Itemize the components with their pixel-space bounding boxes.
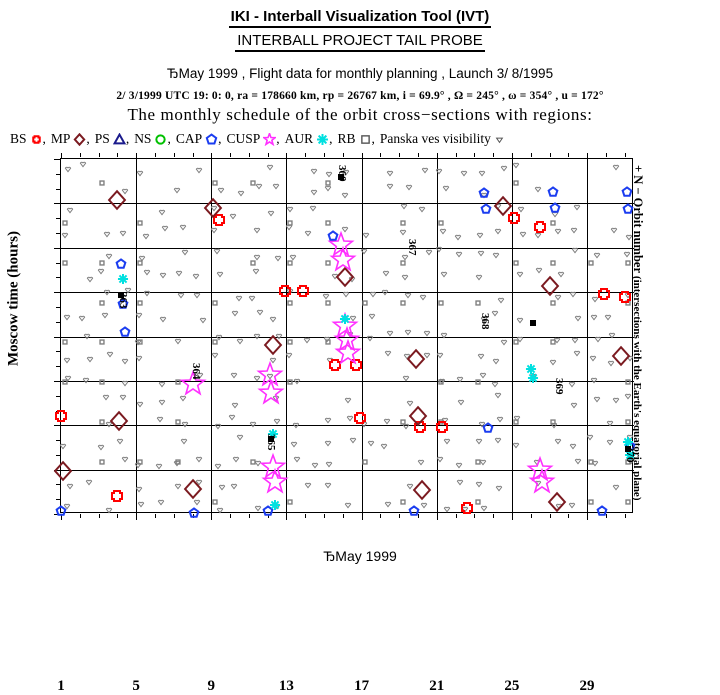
visibility-marker [101,311,109,319]
data-point-bs[interactable] [594,284,614,304]
visibility-marker [442,184,450,192]
visibility-marker [103,288,111,296]
visibility-marker [175,269,183,277]
legend-item-cusp: CUSP [226,131,276,147]
visibility-marker [386,329,394,337]
visibility-marker [159,271,167,279]
visibility-marker [310,167,318,175]
visibility-marker [573,203,581,211]
rb-background-marker [174,419,181,426]
rb-background-marker [99,339,106,346]
visibility-marker [512,441,520,449]
legend-separator: , [43,131,46,147]
visibility-marker [290,440,298,448]
legend-label-cap: CAP [176,131,202,147]
x-tick-minor-top [493,153,494,157]
legend-item-rb: RB [338,131,372,147]
data-point-bs[interactable] [457,498,477,518]
visibility-marker [590,376,598,384]
y-tick [54,159,61,160]
legend-label-cusp: CUSP [226,131,260,147]
visibility-marker [475,273,483,281]
rb-background-marker [399,299,406,306]
square-icon [359,133,372,146]
y-tick-minor [56,499,61,500]
rb-background-marker [287,219,294,226]
x-tick-minor-top [230,153,231,157]
x-tick [136,514,137,520]
visibility-marker [256,308,264,316]
visibility-marker [623,250,631,258]
data-point-mp[interactable] [405,348,427,370]
orbital-elements-line: 2/ 3/1999 UTC 19: 0: 0, ra = 178660 km, … [0,90,720,102]
y-tick-minor [56,189,61,190]
visibility-marker [477,249,485,257]
visibility-marker [404,291,412,299]
visibility-marker [367,439,375,447]
visibility-marker [158,380,166,388]
visibility-marker [106,350,114,358]
visibility-marker [593,395,601,403]
orbit-number-label: 368 [479,313,491,330]
visibility-marker [253,332,261,340]
data-point-cap[interactable] [327,230,339,242]
legend-item-ns: NS [134,131,167,147]
visibility-marker [235,294,243,302]
rb-background-marker [512,339,519,346]
triangle-icon [113,133,126,146]
legend-item-mp: MP [51,131,87,147]
gridline-horizontal [61,381,634,382]
visibility-marker [286,205,294,213]
visibility-marker [121,379,129,387]
data-point-mp[interactable] [539,275,561,297]
x-tick-minor [174,514,175,518]
visibility-marker [574,457,582,465]
x-tick-minor-top [155,153,156,157]
visibility-marker [516,270,524,278]
data-point-cusp[interactable] [529,469,555,495]
rb-background-marker [587,259,594,266]
visibility-marker [325,460,333,468]
data-point-cap[interactable] [188,507,200,519]
rb-background-marker [512,179,519,186]
x-tick-minor [343,514,344,518]
x-tick-top [136,153,137,159]
x-tick-label: 1 [41,678,81,695]
x-tick-minor-top [193,153,194,157]
visibility-marker [400,202,408,210]
data-point-bs[interactable] [432,417,452,437]
visibility-marker [85,478,93,486]
rb-background-marker [136,259,143,266]
schedule-description: The monthly schedule of the orbit cross−… [0,105,720,125]
visibility-marker [456,375,464,383]
data-point-cap[interactable] [478,187,490,199]
data-point-bs[interactable] [51,406,71,426]
visibility-marker [425,248,433,256]
visibility-marker [230,371,238,379]
visibility-marker [158,398,166,406]
data-point-bs[interactable] [275,281,295,301]
visibility-marker [177,291,185,299]
visibility-marker [179,223,187,231]
data-point-aur[interactable] [339,313,351,325]
data-point-mp[interactable] [202,197,224,219]
legend-item-ps: PS [95,131,126,147]
data-point-mp[interactable] [106,189,128,211]
visibility-marker [137,500,145,508]
x-tick-minor [550,514,551,518]
visibility-marker [97,267,105,275]
visibility-marker [421,166,429,174]
data-point-mp[interactable] [262,334,284,356]
orbit-schedule-plot[interactable]: 0369121518212415913172125293603633643653… [60,158,633,513]
visibility-marker [174,337,182,345]
data-point-aur[interactable] [117,273,129,285]
legend-item-cap: CAP [176,131,218,147]
orbit-number-label: 369 [553,378,565,395]
x-tick-minor [380,514,381,518]
x-tick-minor-top [99,153,100,157]
visibility-marker [324,416,332,424]
visibility-marker [344,501,352,509]
rb-background-marker [625,259,632,266]
visibility-marker [103,230,111,238]
visibility-marker [362,231,370,239]
data-point-mp[interactable] [108,410,130,432]
visibility-marker [606,419,614,427]
y-tick [54,203,61,204]
visibility-marker [66,206,74,214]
rb-background-marker [287,259,294,266]
legend-separator: , [218,131,221,147]
rb-background-marker [550,339,557,346]
y-tick-minor [56,322,61,323]
rb-background-marker [550,299,557,306]
visibility-marker [440,270,448,278]
x-tick-label: 9 [191,678,231,695]
visibility-marker [384,500,392,508]
data-point-bs[interactable] [530,217,550,237]
data-point-cap[interactable] [622,203,634,215]
data-point-bs[interactable] [107,486,127,506]
visibility-marker [266,163,274,171]
visibility-marker [460,169,468,177]
data-point-mp[interactable] [492,195,514,217]
visibility-marker [310,188,318,196]
x-tick-minor [155,514,156,518]
x-tick-minor [230,514,231,518]
x-tick-top [286,153,287,159]
y-tick-minor [56,366,61,367]
visibility-marker [135,311,143,319]
visibility-marker [79,160,87,168]
y-tick [54,381,61,382]
x-tick [437,514,438,520]
x-tick-minor [305,514,306,518]
visibility-marker [417,458,425,466]
visibility-marker [589,354,597,362]
visibility-marker [477,352,485,360]
x-tick-minor-top [305,153,306,157]
visibility-marker [236,433,244,441]
rb-background-marker [362,299,369,306]
visibility-marker [255,182,263,190]
x-tick-minor-top [268,153,269,157]
data-point-cap[interactable] [115,258,127,270]
x-tick-minor [324,514,325,518]
data-point-aur[interactable] [269,499,281,511]
data-point-cap[interactable] [549,202,561,214]
visibility-marker [63,313,71,321]
visibility-marker [573,349,581,357]
visibility-marker [231,309,239,317]
rb-background-marker [550,219,557,226]
x-tick-label: 21 [417,678,457,695]
data-point-mp[interactable] [407,405,429,427]
project-subtitle: INTERBALL PROJECT TAIL PROBE [0,32,720,49]
x-tick [587,514,588,520]
orbit-number-label: 370 [624,446,636,463]
visibility-marker [214,422,222,430]
visibility-marker [491,380,499,388]
visibility-marker [86,275,94,283]
pentagon-icon [205,133,218,146]
rb-background-marker [99,379,106,386]
cross-icon [30,133,43,146]
data-point-cap[interactable] [408,505,420,517]
y-tick-minor [56,307,61,308]
gridline-horizontal [61,203,634,204]
legend-label-ns: NS [134,131,151,147]
rb-background-marker [61,259,68,266]
visibility-marker [61,231,69,239]
x-tick-label: 13 [266,678,306,695]
data-point-cap[interactable] [119,326,131,338]
x-tick-minor [625,514,626,518]
data-point-bs[interactable] [615,287,635,307]
visibility-marker [405,183,413,191]
visibility-marker [455,461,463,469]
rb-background-marker [61,379,68,386]
y-tick-minor [56,174,61,175]
visibility-marker [380,442,388,450]
rb-background-marker [136,299,143,306]
y-tick [54,292,61,293]
x-tick-minor [493,514,494,518]
visibility-marker [612,483,620,491]
x-tick-minor [531,514,532,518]
x-tick-minor-top [456,153,457,157]
data-point-cap[interactable] [596,505,608,517]
data-point-cap[interactable] [55,505,67,517]
visibility-marker [369,290,377,298]
y-tick-minor [56,277,61,278]
visibility-marker [156,415,164,423]
rb-background-marker [625,379,632,386]
visibility-marker [382,269,390,277]
visibility-marker [534,185,542,193]
star-icon [263,133,276,146]
visibility-marker [66,482,74,490]
visibility-marker [475,480,483,488]
visibility-marker [292,421,300,429]
rb-background-marker [475,299,482,306]
data-point-aur[interactable] [527,372,539,384]
visibility-marker [624,392,632,400]
orbit-number-label: 364 [190,363,202,380]
visibility-marker [143,289,151,297]
visibility-marker [173,186,181,194]
visibility-marker [341,191,349,199]
visibility-marker [344,396,352,404]
data-point-bs[interactable] [293,281,313,301]
data-point-rb[interactable] [528,318,538,328]
visibility-marker [102,393,110,401]
visibility-marker [418,205,426,213]
visibility-marker [608,331,616,339]
x-tick-minor-top [117,153,118,157]
visibility-marker [135,485,143,493]
visibility-marker [454,233,462,241]
visibility-marker [229,212,237,220]
visibility-marker [253,226,261,234]
rb-background-marker [324,299,331,306]
x-axis-title: ЂMay 1999 [0,548,720,564]
visibility-marker [476,231,484,239]
y-tick-minor [56,351,61,352]
visibility-marker [311,461,319,469]
rb-background-marker [174,459,181,466]
visibility-marker [248,294,256,302]
visibility-marker [554,227,562,235]
visibility-marker [232,455,240,463]
rb-background-marker [437,219,444,226]
data-point-cusp[interactable] [335,340,361,366]
visibility-marker [293,377,301,385]
visibility-marker [181,420,189,428]
visibility-marker [383,417,391,425]
x-tick-label: 29 [567,678,607,695]
y-tick-minor [56,218,61,219]
visibility-marker [404,328,412,336]
rb-background-marker [399,219,406,226]
visibility-marker [568,501,576,509]
visibility-marker [293,455,301,463]
rb-background-marker [99,259,106,266]
visibility-marker [273,417,281,425]
data-point-mp[interactable] [610,345,632,367]
data-point-mp[interactable] [52,460,74,482]
visibility-marker [496,415,504,423]
visibility-marker [272,182,280,190]
rb-background-marker [399,499,406,506]
visibility-marker [143,268,151,276]
visibility-marker [475,437,483,445]
data-point-bs[interactable] [350,408,370,428]
visibility-marker [309,204,317,212]
asterisk-icon [316,133,329,146]
legend-label-visibility: Panska ves visibility [380,131,491,147]
visibility-marker [384,349,392,357]
rb-background-marker [625,419,632,426]
visibility-marker [86,355,94,363]
visibility-marker [568,380,576,388]
visibility-marker [216,506,224,514]
visibility-marker [269,315,277,323]
rb-background-marker [437,379,444,386]
visibility-marker [570,401,578,409]
rb-background-marker [136,219,143,226]
data-point-cap[interactable] [482,422,494,434]
legend-item-aur: AUR [285,131,330,147]
legend-separator: , [86,131,89,147]
x-tick-minor-top [568,153,569,157]
x-tick-minor-top [531,153,532,157]
visibility-marker [192,272,200,280]
data-point-cusp[interactable] [258,380,284,406]
x-tick-minor-top [606,153,607,157]
visibility-marker [419,293,427,301]
flight-data-line: ЂMay 1999 , Flight data for monthly plan… [0,66,720,81]
visibility-marker [121,455,129,463]
x-tick-label: 17 [342,678,382,695]
data-point-cap[interactable] [480,203,492,215]
x-tick-minor-top [80,153,81,157]
orbit-number-label: 360 [336,165,348,182]
visibility-marker [324,439,332,447]
rb-background-marker [587,459,594,466]
visibility-marker [59,442,67,450]
visibility-marker [78,314,86,322]
visibility-marker [249,420,257,428]
visibility-marker [252,267,260,275]
visibility-marker [324,481,332,489]
x-tick-label: 5 [116,678,156,695]
visibility-marker [211,351,219,359]
y-tick [54,337,61,338]
visibility-marker [217,186,225,194]
x-tick-minor-top [343,153,344,157]
visibility-marker [516,316,524,324]
visibility-marker [491,309,499,317]
data-point-cap[interactable] [621,186,633,198]
data-point-cap[interactable] [547,186,559,198]
visibility-marker [420,501,428,509]
x-tick-top [362,153,363,159]
visibility-marker [571,336,579,344]
orbit-number-label: 367 [406,239,418,256]
visibility-marker [439,227,447,235]
visibility-marker [195,166,203,174]
data-point-mp[interactable] [411,479,433,501]
y-tick-minor [56,263,61,264]
rb-background-marker [437,299,444,306]
data-point-cusp[interactable] [330,247,356,273]
visibility-marker [119,229,127,237]
data-point-mp[interactable] [182,478,204,500]
visibility-marker [401,273,409,281]
x-tick-minor-top [625,153,626,157]
data-point-cusp[interactable] [262,469,288,495]
x-tick-minor-top [249,153,250,157]
visibility-marker [155,462,163,470]
y-tick-minor [56,455,61,456]
visibility-marker [199,316,207,324]
visibility-marker [590,313,598,321]
x-tick-minor-top [474,153,475,157]
